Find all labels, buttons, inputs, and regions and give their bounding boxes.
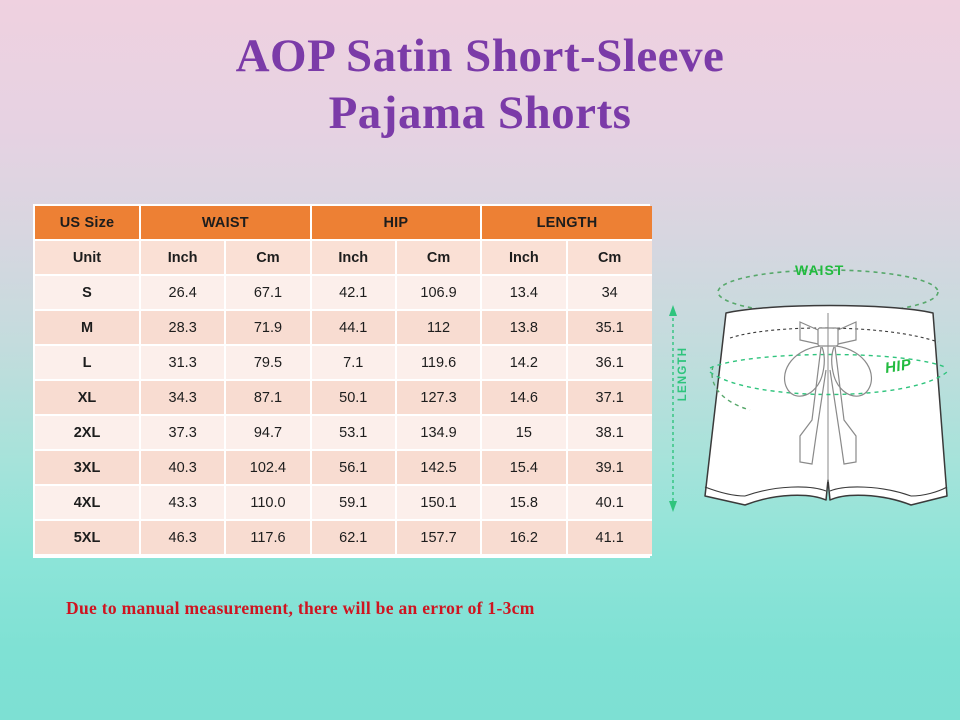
unit-hip-inch: Inch [311, 240, 396, 275]
table-row: 4XL 43.3 110.0 59.1 150.1 15.8 40.1 [35, 485, 652, 520]
cell-length-inch: 15.8 [481, 485, 566, 520]
cell-size: 5XL [35, 520, 140, 555]
cell-hip-cm: 134.9 [396, 415, 481, 450]
cell-size: 4XL [35, 485, 140, 520]
cell-length-cm: 40.1 [567, 485, 652, 520]
table-row: L 31.3 79.5 7.1 119.6 14.2 36.1 [35, 345, 652, 380]
table-body: S 26.4 67.1 42.1 106.9 13.4 34 M 28.3 71… [35, 275, 652, 555]
table-row: M 28.3 71.9 44.1 112 13.8 35.1 [35, 310, 652, 345]
cell-waist-inch: 26.4 [140, 275, 225, 310]
cell-waist-inch: 46.3 [140, 520, 225, 555]
cell-waist-inch: 43.3 [140, 485, 225, 520]
shorts-body [705, 306, 947, 506]
table-row: S 26.4 67.1 42.1 106.9 13.4 34 [35, 275, 652, 310]
header-waist: WAIST [140, 206, 311, 240]
shorts-measurement-diagram: WAIST HIP LENGTH [660, 250, 960, 540]
cell-waist-inch: 28.3 [140, 310, 225, 345]
unit-hip-cm: Cm [396, 240, 481, 275]
title-line-2: Pajama Shorts [0, 85, 960, 142]
cell-waist-cm: 102.4 [225, 450, 310, 485]
unit-label: Unit [35, 240, 140, 275]
cell-hip-inch: 53.1 [311, 415, 396, 450]
table-row: XL 34.3 87.1 50.1 127.3 14.6 37.1 [35, 380, 652, 415]
header-us-size: US Size [35, 206, 140, 240]
cell-size: L [35, 345, 140, 380]
table-row: 3XL 40.3 102.4 56.1 142.5 15.4 39.1 [35, 450, 652, 485]
header-hip: HIP [311, 206, 482, 240]
table-row: 5XL 46.3 117.6 62.1 157.7 16.2 41.1 [35, 520, 652, 555]
cell-length-cm: 39.1 [567, 450, 652, 485]
unit-waist-cm: Cm [225, 240, 310, 275]
cell-length-cm: 38.1 [567, 415, 652, 450]
cell-waist-cm: 67.1 [225, 275, 310, 310]
cell-length-inch: 13.8 [481, 310, 566, 345]
cell-size: M [35, 310, 140, 345]
cell-waist-inch: 40.3 [140, 450, 225, 485]
cell-hip-cm: 157.7 [396, 520, 481, 555]
cell-waist-cm: 117.6 [225, 520, 310, 555]
header-length: LENGTH [481, 206, 652, 240]
cell-hip-inch: 59.1 [311, 485, 396, 520]
cell-hip-inch: 50.1 [311, 380, 396, 415]
table-group-header-row: US Size WAIST HIP LENGTH [35, 206, 652, 240]
cell-length-cm: 41.1 [567, 520, 652, 555]
cell-waist-cm: 94.7 [225, 415, 310, 450]
cell-size: XL [35, 380, 140, 415]
size-chart-table: US Size WAIST HIP LENGTH Unit Inch Cm In… [35, 206, 652, 556]
cell-hip-inch: 7.1 [311, 345, 396, 380]
cell-size: 2XL [35, 415, 140, 450]
unit-waist-inch: Inch [140, 240, 225, 275]
cell-waist-cm: 71.9 [225, 310, 310, 345]
cell-length-inch: 15.4 [481, 450, 566, 485]
unit-length-inch: Inch [481, 240, 566, 275]
shorts-illustration-svg [660, 250, 960, 540]
cell-length-inch: 15 [481, 415, 566, 450]
cell-hip-inch: 56.1 [311, 450, 396, 485]
cell-waist-inch: 34.3 [140, 380, 225, 415]
size-chart-table-container: US Size WAIST HIP LENGTH Unit Inch Cm In… [33, 204, 650, 558]
length-arrow-icon [669, 305, 677, 512]
cell-hip-cm: 142.5 [396, 450, 481, 485]
waist-label: WAIST [795, 262, 844, 278]
cell-length-inch: 13.4 [481, 275, 566, 310]
cell-hip-cm: 119.6 [396, 345, 481, 380]
table-unit-row: Unit Inch Cm Inch Cm Inch Cm [35, 240, 652, 275]
cell-waist-inch: 37.3 [140, 415, 225, 450]
measurement-disclaimer: Due to manual measurement, there will be… [66, 598, 535, 619]
cell-hip-inch: 44.1 [311, 310, 396, 345]
cell-hip-cm: 150.1 [396, 485, 481, 520]
cell-hip-inch: 42.1 [311, 275, 396, 310]
cell-length-inch: 14.6 [481, 380, 566, 415]
cell-hip-cm: 106.9 [396, 275, 481, 310]
cell-waist-inch: 31.3 [140, 345, 225, 380]
cell-waist-cm: 110.0 [225, 485, 310, 520]
cell-waist-cm: 79.5 [225, 345, 310, 380]
cell-length-cm: 36.1 [567, 345, 652, 380]
cell-hip-inch: 62.1 [311, 520, 396, 555]
cell-length-cm: 34 [567, 275, 652, 310]
cell-length-inch: 16.2 [481, 520, 566, 555]
cell-hip-cm: 112 [396, 310, 481, 345]
cell-hip-cm: 127.3 [396, 380, 481, 415]
cell-length-cm: 37.1 [567, 380, 652, 415]
table-head: US Size WAIST HIP LENGTH Unit Inch Cm In… [35, 206, 652, 275]
length-label: LENGTH [677, 347, 689, 401]
title-line-1: AOP Satin Short-Sleeve [0, 28, 960, 85]
cell-waist-cm: 87.1 [225, 380, 310, 415]
cell-size: 3XL [35, 450, 140, 485]
table-row: 2XL 37.3 94.7 53.1 134.9 15 38.1 [35, 415, 652, 450]
cell-length-cm: 35.1 [567, 310, 652, 345]
cell-length-inch: 14.2 [481, 345, 566, 380]
cell-size: S [35, 275, 140, 310]
unit-length-cm: Cm [567, 240, 652, 275]
page-title: AOP Satin Short-Sleeve Pajama Shorts [0, 28, 960, 142]
